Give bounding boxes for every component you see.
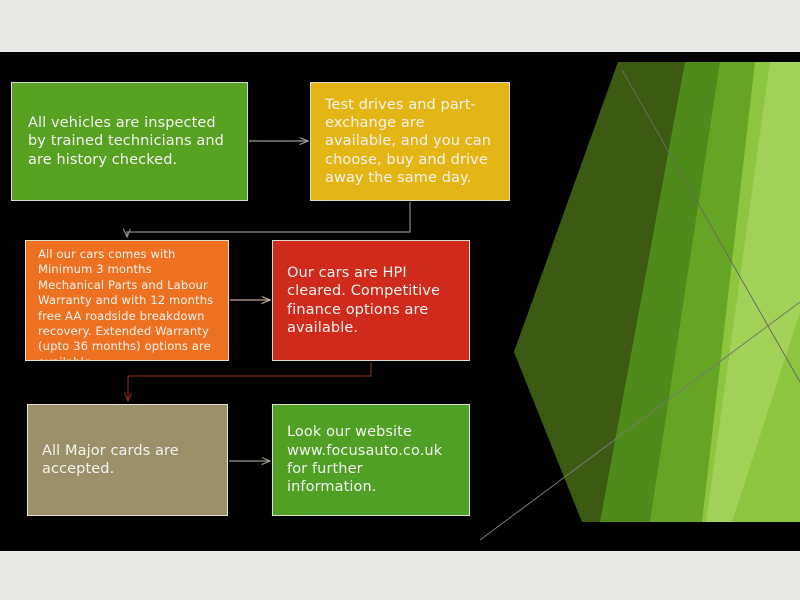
slide-viewer: All vehicles are inspected by trained te… xyxy=(0,0,800,600)
flow-node-inspection-text: All vehicles are inspected by trained te… xyxy=(28,114,231,169)
decor-polygon-bright-green xyxy=(650,62,800,522)
decor-hairline-lower xyxy=(480,302,800,540)
decorative-green-polygons xyxy=(470,52,800,551)
flow-node-test-drives[interactable]: Test drives and part-exchange are availa… xyxy=(310,82,510,201)
decor-polygon-dark-green xyxy=(514,62,800,522)
flow-node-warranty-text: All our cars comes with Minimum 3 months… xyxy=(38,247,216,361)
connector-test-drives-to-warranty xyxy=(127,202,410,237)
connector-hpi-finance-to-cards xyxy=(128,362,371,401)
decor-polygon-mid-green xyxy=(600,62,800,522)
decor-hairline-upper xyxy=(622,70,800,382)
flow-node-hpi-finance[interactable]: Our cars are HPI cleared. Competitive fi… xyxy=(272,240,470,361)
decor-polygon-pale-green xyxy=(706,62,800,522)
decor-polygon-olive xyxy=(514,62,800,522)
slide-canvas: All vehicles are inspected by trained te… xyxy=(0,52,800,551)
flow-node-test-drives-text: Test drives and part-exchange are availa… xyxy=(325,96,495,187)
flow-node-warranty[interactable]: All our cars comes with Minimum 3 months… xyxy=(25,240,229,361)
flow-node-cards[interactable]: All Major cards are accepted. xyxy=(27,404,228,516)
flow-node-cards-text: All Major cards are accepted. xyxy=(42,442,213,479)
flow-node-website-text: Look our website www.focusauto.co.uk for… xyxy=(287,423,455,496)
flow-node-inspection[interactable]: All vehicles are inspected by trained te… xyxy=(11,82,248,201)
flow-node-website[interactable]: Look our website www.focusauto.co.uk for… xyxy=(272,404,470,516)
flow-node-hpi-finance-text: Our cars are HPI cleared. Competitive fi… xyxy=(287,264,455,337)
decor-polygon-light-green xyxy=(702,62,800,522)
